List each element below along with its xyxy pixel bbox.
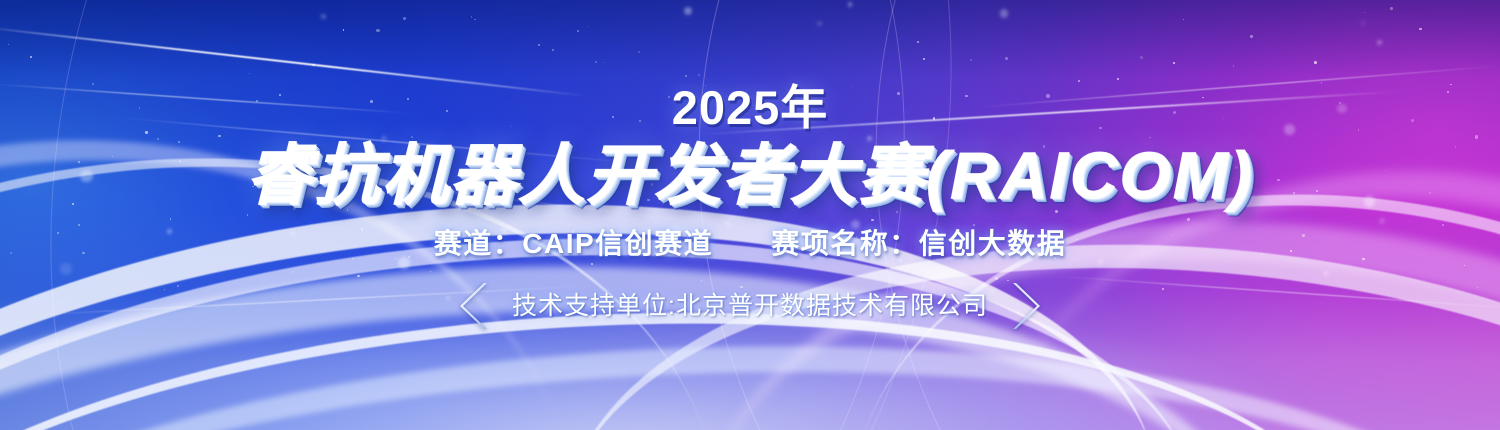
banner-subtitle-row: 赛道：CAIP信创赛道 赛项名称：信创大数据 [434, 230, 1066, 258]
banner-year: 2025年 [672, 84, 829, 131]
support-row: 技术支持单位:北京普开数据技术有限公司 [460, 283, 1040, 329]
chevron-right-icon [1010, 283, 1040, 329]
track-label: 赛道：CAIP信创赛道 [434, 230, 713, 258]
event-name-label: 赛项名称：信创大数据 [771, 230, 1066, 258]
banner-main-title: 睿抗机器人开发者大赛(RAICOM) [246, 142, 1254, 208]
banner-content: 2025年 睿抗机器人开发者大赛(RAICOM) 赛道：CAIP信创赛道 赛项名… [0, 0, 1500, 430]
event-banner: 2025年 睿抗机器人开发者大赛(RAICOM) 赛道：CAIP信创赛道 赛项名… [0, 0, 1500, 430]
chevron-left-icon [460, 283, 490, 329]
support-unit-text: 技术支持单位:北京普开数据技术有限公司 [512, 294, 988, 319]
